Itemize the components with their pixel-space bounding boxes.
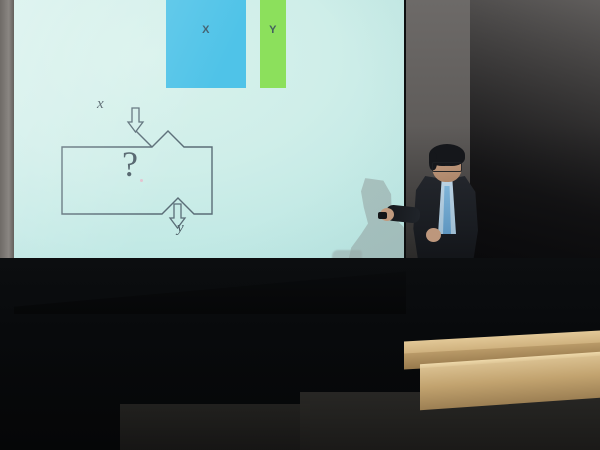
right-wall-shade <box>470 0 600 262</box>
slide-block-y: Y <box>260 0 286 88</box>
black-box-outline <box>44 92 244 257</box>
slide-block-x-label: X <box>202 24 210 36</box>
slide-block-x: X <box>166 0 246 88</box>
lens-speck <box>140 179 143 182</box>
diagram-question-mark: ? <box>122 146 138 182</box>
glasses-icon <box>432 162 462 172</box>
floor-left <box>120 404 310 450</box>
diagram-input-label: x <box>97 96 104 113</box>
presenter-hand-lower <box>426 228 441 242</box>
lecture-hall-photo: X Y x y ? <box>0 0 600 450</box>
left-wall <box>0 0 16 300</box>
black-box-diagram: x y ? <box>44 92 244 257</box>
presentation-clicker <box>378 212 387 219</box>
slide-block-y-label: Y <box>269 24 277 36</box>
diagram-output-label: y <box>177 220 184 237</box>
